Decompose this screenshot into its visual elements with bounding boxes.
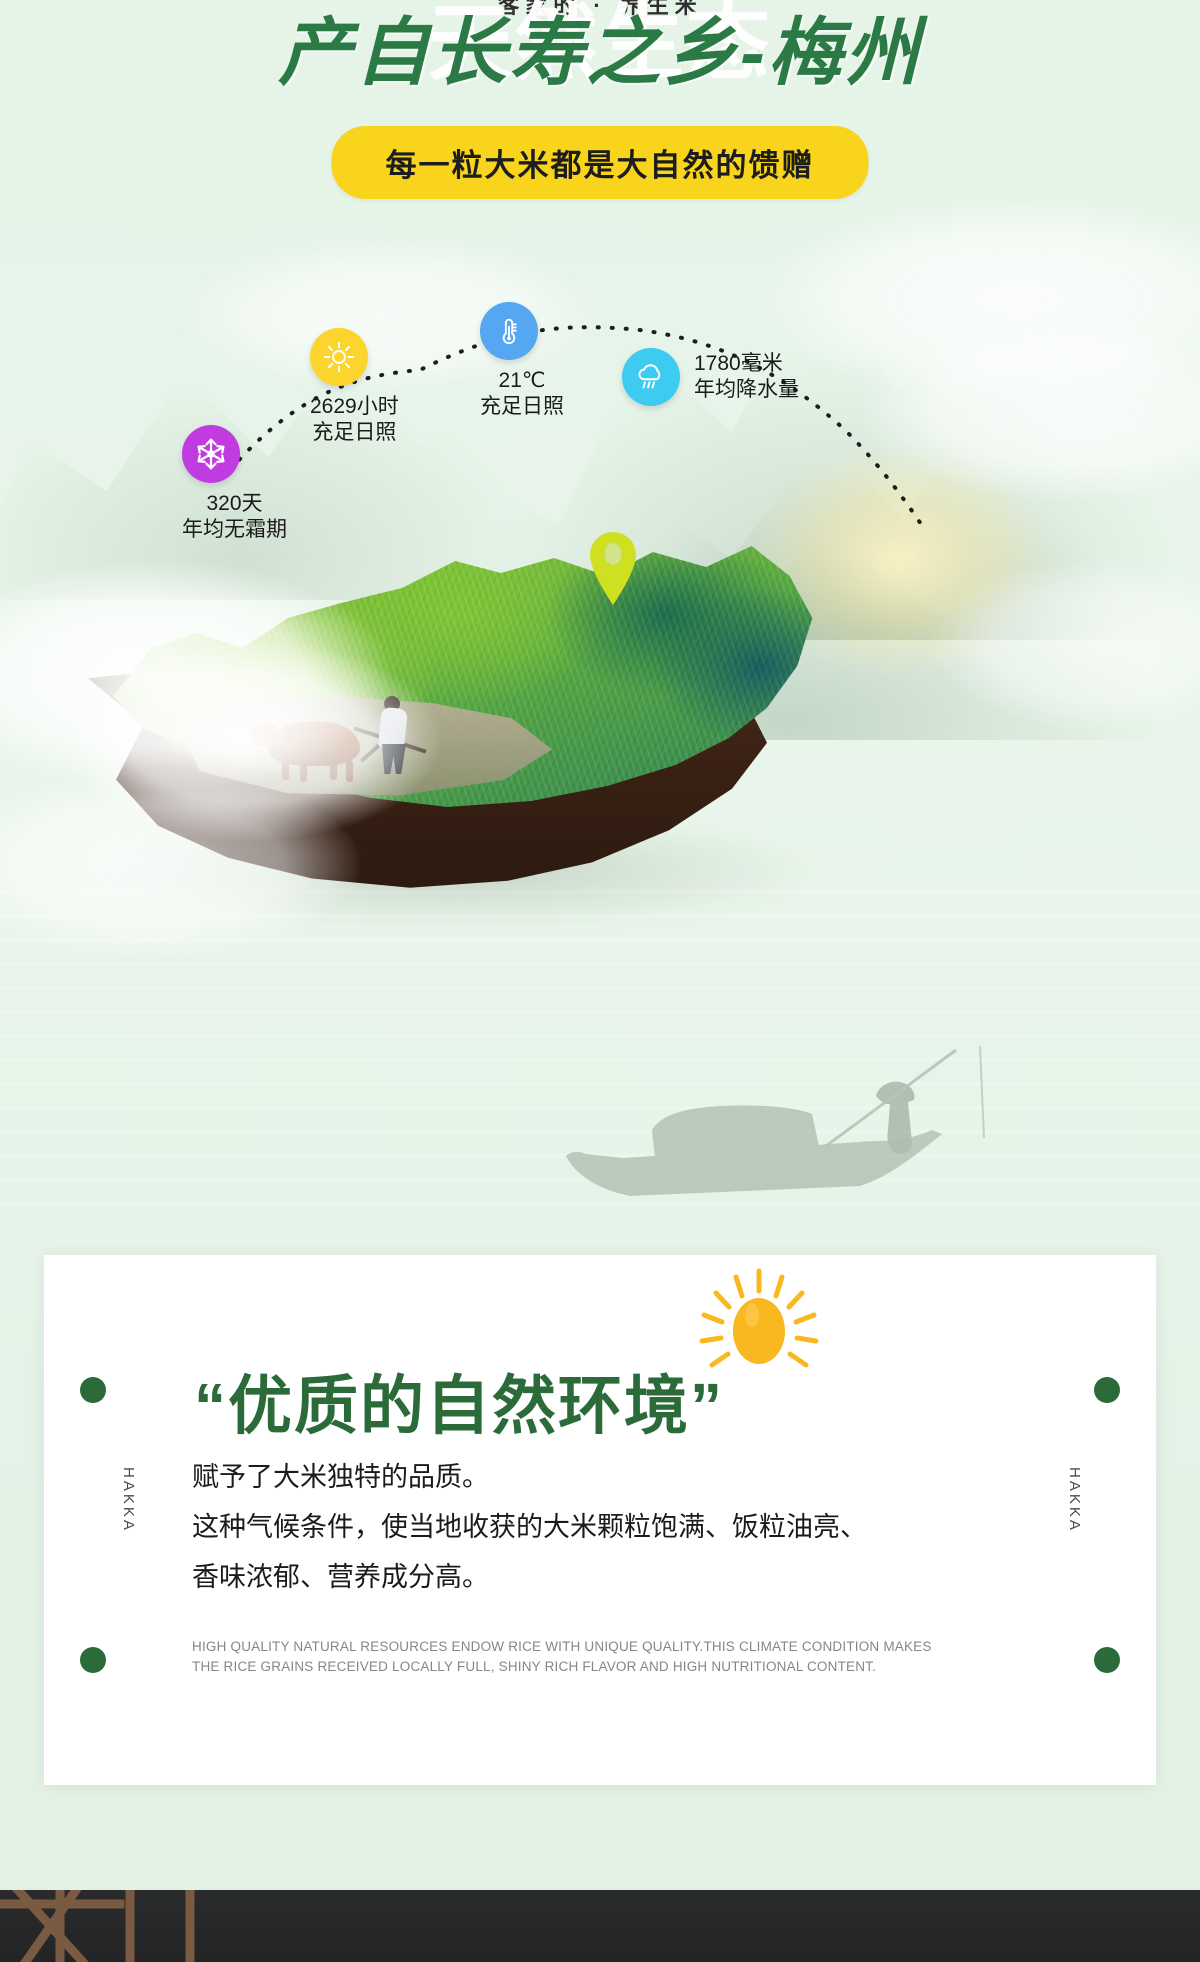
rain-cloud-icon [622,348,680,406]
card-english-text: HIGH QUALITY NATURAL RESOURCES ENDOW RIC… [192,1637,952,1676]
product-detail-page: 客家的 · 养生米 天然生态 产自长寿之乡-梅州 每一粒大米都是大自然的馈赠 [0,0,1200,1962]
card-body-text: 赋予了大米独特的品质。 这种气候条件，使当地收获的大米颗粒饱满、饭粒油亮、 香味… [192,1453,1012,1603]
body-line: 赋予了大米独特的品质。 [192,1453,1012,1503]
hakka-label-left: HAKKA [120,1467,137,1533]
hakka-label-right: HAKKA [1066,1467,1083,1533]
climate-value: 320天 [182,491,287,517]
climate-arc: 320天 年均无霜期 2629小时 [0,270,1200,600]
tagline-pill: 每一粒大米都是大自然的馈赠 [332,126,869,199]
climate-caption: 年均降水量 [694,377,799,403]
sun-icon [310,328,368,386]
climate-node-label: 1780毫米 年均降水量 [694,351,799,404]
quality-card: “优质的自然环境” HAKKA HAKKA 赋予了大米独特的品质。 这种气候条件… [44,1255,1156,1785]
climate-node-sunshine-hours[interactable]: 2629小时 充足日照 [310,328,399,447]
wooden-lattice-decor [0,1890,340,1962]
ox-animal [268,722,360,766]
climate-caption: 年均无霜期 [182,517,287,543]
corner-dot [1094,1377,1120,1403]
footer-strip [0,1890,1200,1962]
climate-value: 21℃ [480,368,564,394]
snowflake-icon [182,425,240,483]
climate-node-temperature[interactable]: 21℃ 充足日照 [480,302,564,421]
fisherman-boat-silhouette [560,1030,1020,1220]
farmer-body [378,707,408,749]
corner-dot [1094,1647,1120,1673]
climate-node-label: 320天 年均无霜期 [182,491,287,544]
corner-dot [80,1377,106,1403]
climate-node-rainfall[interactable]: 1780毫米 年均降水量 [622,348,799,406]
arc-dotted-path [0,270,1200,600]
body-line: 香味浓郁、营养成分高。 [192,1553,1012,1603]
english-line: THE RICE GRAINS RECEIVED LOCALLY FULL, S… [192,1657,952,1677]
climate-value: 2629小时 [310,394,399,420]
climate-caption: 充足日照 [310,420,399,446]
english-line: HIGH QUALITY NATURAL RESOURCES ENDOW RIC… [192,1637,952,1657]
card-title: “优质的自然环境” [194,1355,894,1447]
page-title: 产自长寿之乡-梅州 [0,16,1200,90]
thermometer-icon [480,302,538,360]
body-line: 这种气候条件，使当地收获的大米颗粒饱满、饭粒油亮、 [192,1503,1012,1553]
climate-caption: 充足日照 [480,394,564,420]
climate-node-label: 2629小时 充足日照 [310,394,399,447]
corner-dot [80,1647,106,1673]
climate-node-frost-free[interactable]: 320天 年均无霜期 [182,425,287,544]
climate-node-label: 21℃ 充足日照 [480,368,564,421]
climate-value: 1780毫米 [694,351,799,377]
